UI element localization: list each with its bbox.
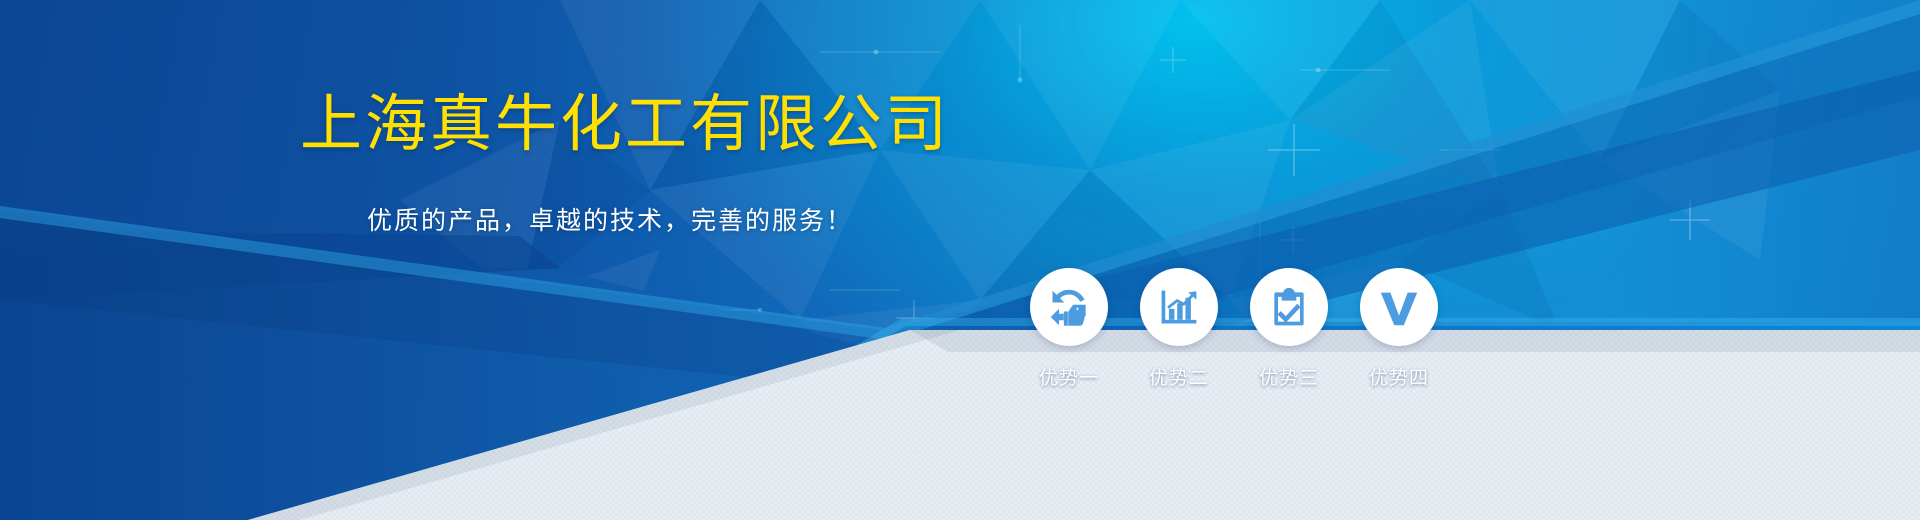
advantage-item-4[interactable]: 优势四 <box>1360 268 1438 390</box>
advantage-label-3: 优势三 <box>1259 363 1319 390</box>
advantage-icon-circle-4 <box>1360 268 1438 346</box>
v-check-icon <box>1376 284 1422 330</box>
background-gradient <box>0 0 1920 520</box>
advantage-icon-circle-3 <box>1250 268 1328 346</box>
company-title: 上海真牛化工有限公司 <box>300 92 920 157</box>
advantage-item-2[interactable]: 优势二 <box>1140 268 1218 390</box>
recycle-thumbsup-icon <box>1046 284 1092 330</box>
bar-chart-growth-icon <box>1157 285 1201 329</box>
advantage-item-3[interactable]: 优势三 <box>1250 268 1328 390</box>
advantage-label-1: 优势一 <box>1039 363 1099 390</box>
company-slogan: 优质的产品，卓越的技术，完善的服务！ <box>300 201 920 237</box>
advantage-icon-circle-2 <box>1140 268 1218 346</box>
advantages-row: 优势一 <box>1030 268 1438 390</box>
headline-block: 上海真牛化工有限公司 优质的产品，卓越的技术，完善的服务！ <box>300 92 920 237</box>
advantage-item-1[interactable]: 优势一 <box>1030 268 1108 390</box>
company-hero-banner: 上海真牛化工有限公司 优质的产品，卓越的技术，完善的服务！ <box>0 0 1920 520</box>
advantage-label-2: 优势二 <box>1149 363 1209 390</box>
clipboard-check-icon <box>1267 285 1311 329</box>
advantage-icon-circle-1 <box>1030 268 1108 346</box>
advantage-label-4: 优势四 <box>1369 363 1429 390</box>
